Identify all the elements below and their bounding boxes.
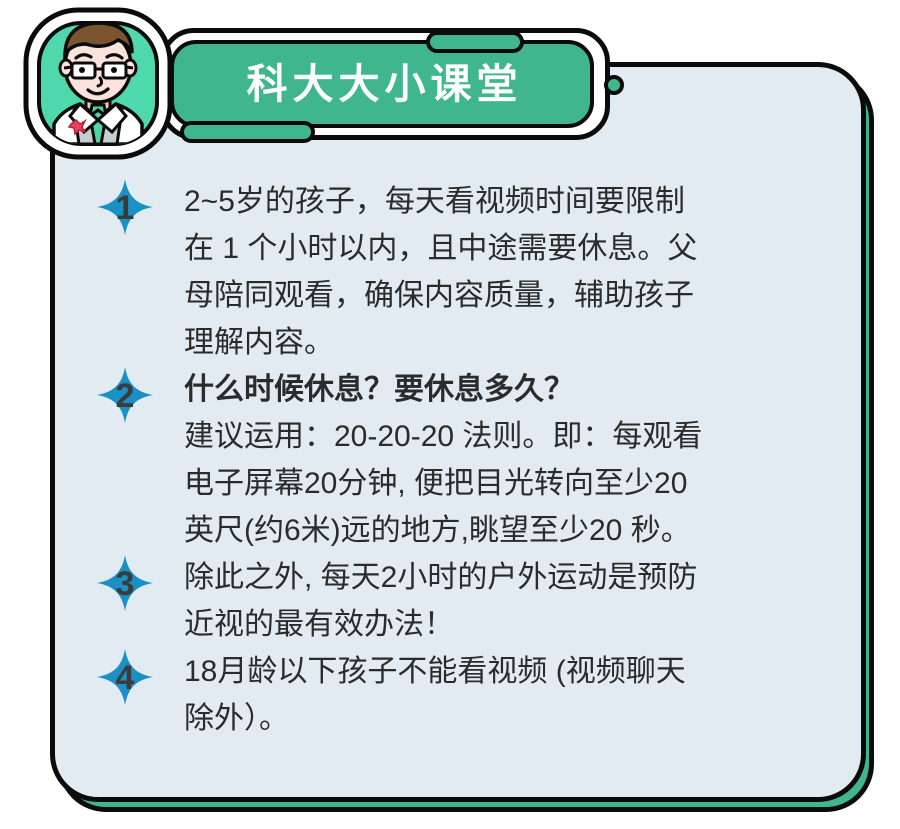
marker-number: 2 bbox=[116, 377, 135, 415]
list-item: 2 什么时候休息？要休息多久？ 建议运用：20-20-20 法则。即：每观看 电… bbox=[96, 366, 826, 554]
doctor-avatar-icon bbox=[22, 6, 174, 161]
star-marker-icon: 2 bbox=[96, 366, 154, 424]
marker-number: 3 bbox=[116, 565, 135, 603]
list-item-text: 18月龄以下孩子不能看视频 (视频聊天 除外）。 bbox=[184, 648, 826, 742]
list-item: 4 18月龄以下孩子不能看视频 (视频聊天 除外）。 bbox=[96, 648, 826, 742]
list-item-line: 近视的最有效办法！ bbox=[184, 601, 826, 648]
lesson-list: 1 2~5岁的孩子，每天看视频时间要限制 在 1 个小时以内，且中途需要休息。父… bbox=[96, 178, 826, 742]
list-item-text: 什么时候休息？要休息多久？ 建议运用：20-20-20 法则。即：每观看 电子屏… bbox=[184, 366, 826, 554]
list-item-line: 什么时候休息？要休息多久？ bbox=[184, 366, 826, 413]
banner-decor-pill-top bbox=[426, 31, 524, 53]
list-item-line: 电子屏幕20分钟, 便把目光转向至少20 bbox=[184, 460, 826, 507]
list-item: 1 2~5岁的孩子，每天看视频时间要限制 在 1 个小时以内，且中途需要休息。父… bbox=[96, 178, 826, 366]
star-marker-icon: 3 bbox=[96, 554, 154, 612]
list-item-text: 2~5岁的孩子，每天看视频时间要限制 在 1 个小时以内，且中途需要休息。父 母… bbox=[184, 178, 826, 366]
list-item-text: 除此之外, 每天2小时的户外运动是预防 近视的最有效办法！ bbox=[184, 554, 826, 648]
list-item-line: 除此之外, 每天2小时的户外运动是预防 bbox=[184, 554, 826, 601]
list-item: 3 除此之外, 每天2小时的户外运动是预防 近视的最有效办法！ bbox=[96, 554, 826, 648]
list-item-line: 在 1 个小时以内，且中途需要休息。父 bbox=[184, 225, 826, 272]
banner-decor-pill-bottom bbox=[180, 121, 315, 143]
list-item-line: 2~5岁的孩子，每天看视频时间要限制 bbox=[184, 178, 826, 225]
list-item-line: 英尺(约6米)远的地方,眺望至少20 秒。 bbox=[184, 507, 826, 554]
poster-root: 科大大小课堂 bbox=[0, 0, 900, 829]
banner-title-text: 科大大小课堂 bbox=[242, 64, 523, 105]
marker-number: 4 bbox=[116, 659, 135, 697]
title-banner: 科大大小课堂 bbox=[152, 18, 622, 148]
list-item-line: 母陪同观看，确保内容质量，辅助孩子 bbox=[184, 272, 826, 319]
banner-inner-capsule: 科大大小课堂 bbox=[170, 40, 594, 128]
banner-connector-dot-icon bbox=[604, 75, 624, 95]
list-item-line: 建议运用：20-20-20 法则。即：每观看 bbox=[184, 413, 826, 460]
list-item-line: 除外）。 bbox=[184, 695, 826, 742]
marker-number: 1 bbox=[116, 189, 135, 227]
list-item-line: 理解内容。 bbox=[184, 319, 826, 366]
star-marker-icon: 4 bbox=[96, 648, 154, 706]
list-item-line: 18月龄以下孩子不能看视频 (视频聊天 bbox=[184, 648, 826, 695]
star-marker-icon: 1 bbox=[96, 178, 154, 236]
